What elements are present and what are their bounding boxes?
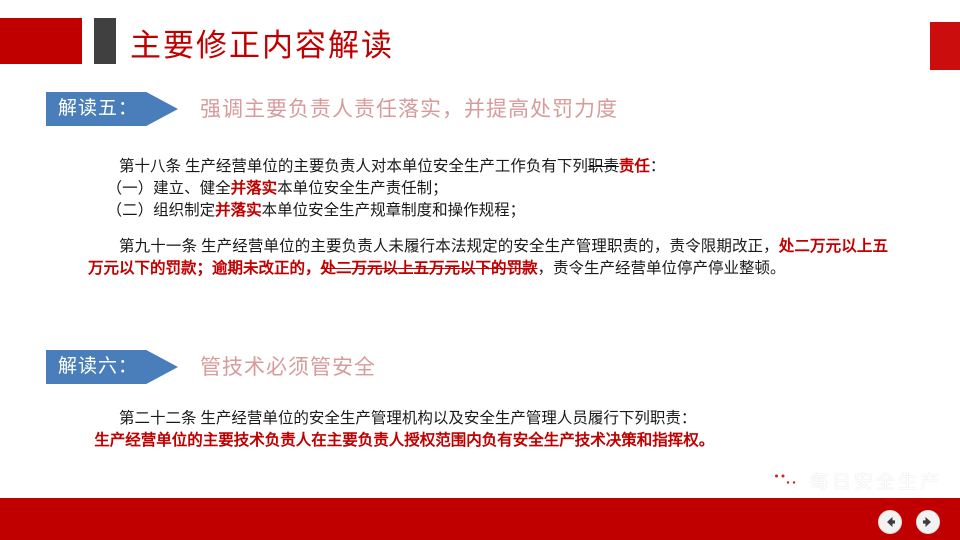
text-segment: 职责 <box>588 158 619 175</box>
section-title-five: 强调主要负责人责任落实，并提高处罚力度 <box>200 93 618 125</box>
wechat-icon <box>768 468 802 494</box>
text-segment: 并落实 <box>215 202 262 219</box>
arrow-right-icon <box>921 515 935 529</box>
section-interpretation-five: 解读五： 强调主要负责人责任落实，并提高处罚力度 <box>0 92 960 126</box>
section-header: 解读五： 强调主要负责人责任落实，并提高处罚力度 <box>0 92 960 126</box>
navigation-buttons[interactable] <box>878 510 940 534</box>
watermark: 每日安全生产 <box>768 467 942 494</box>
paragraph-article-18: 第十八条 生产经营单位的主要负责人对本单位安全生产工作负有下列职责责任： <box>88 156 888 178</box>
text-segment: 生产经营单位的主要技术负责人在主要负责人授权范围内负有安全生产技术决策和指挥权。 <box>94 432 714 449</box>
text-segment: 责任 <box>619 158 650 175</box>
next-button[interactable] <box>916 510 940 534</box>
watermark-label: 每日安全生产 <box>810 467 942 494</box>
footer-red-band <box>0 498 960 540</box>
text-segment: 本单位安全生产规章制度和操作规程； <box>262 202 526 219</box>
section-header: 解读六： 管技术必须管安全 <box>0 350 960 384</box>
section-badge-six: 解读六： <box>46 350 178 384</box>
paragraph-article-22-highlight: 生产经营单位的主要技术负责人在主要负责人授权范围内负有安全生产技术决策和指挥权。 <box>88 430 888 452</box>
title-red-block <box>0 18 82 64</box>
text-segment: 处二万元以上五万元以下的罚款 <box>321 260 538 277</box>
text-segment: 并落实 <box>231 180 278 197</box>
text-segment: 本单位安全生产责任制； <box>277 180 448 197</box>
paragraph-article-18-item-2: （二）组织制定并落实本单位安全生产规章制度和操作规程； <box>88 200 888 222</box>
text-segment: 第二十二条 生产经营单位的安全生产管理机构以及安全生产管理人员履行下列职责： <box>119 410 696 427</box>
text-segment: （二）组织制定 <box>107 202 216 219</box>
top-right-red-block <box>930 22 960 70</box>
section-badge-five: 解读五： <box>46 92 178 126</box>
paragraph-article-91: 第九十一条 生产经营单位的主要负责人未履行本法规定的安全生产管理职责的，责令限期… <box>88 236 888 280</box>
title-dark-tab <box>94 18 116 64</box>
section-five-body: 第十八条 生产经营单位的主要负责人对本单位安全生产工作负有下列职责责任： （一）… <box>88 156 888 280</box>
slide-canvas: 主要修正内容解读 解读五： 强调主要负责人责任落实，并提高处罚力度 第十八条 生… <box>0 0 960 540</box>
arrow-left-icon <box>883 515 897 529</box>
prev-button[interactable] <box>878 510 902 534</box>
text-segment: ，责令生产经营单位停产停业整顿。 <box>538 260 786 277</box>
text-segment: （一）建立、健全 <box>107 180 231 197</box>
section-six-body: 第二十二条 生产经营单位的安全生产管理机构以及安全生产管理人员履行下列职责： 生… <box>88 408 888 452</box>
section-interpretation-six: 解读六： 管技术必须管安全 <box>0 350 960 384</box>
text-segment: ： <box>650 158 666 175</box>
page-title: 主要修正内容解读 <box>130 20 394 65</box>
text-segment: 第十八条 生产经营单位的主要负责人对本单位安全生产工作负有下列 <box>119 158 588 175</box>
section-title-six: 管技术必须管安全 <box>200 351 376 383</box>
paragraph-article-22: 第二十二条 生产经营单位的安全生产管理机构以及安全生产管理人员履行下列职责： <box>88 408 888 430</box>
paragraph-article-18-item-1: （一）建立、健全并落实本单位安全生产责任制； <box>88 178 888 200</box>
text-segment: 第九十一条 生产经营单位的主要负责人未履行本法规定的安全生产管理职责的，责令限期… <box>119 238 779 255</box>
